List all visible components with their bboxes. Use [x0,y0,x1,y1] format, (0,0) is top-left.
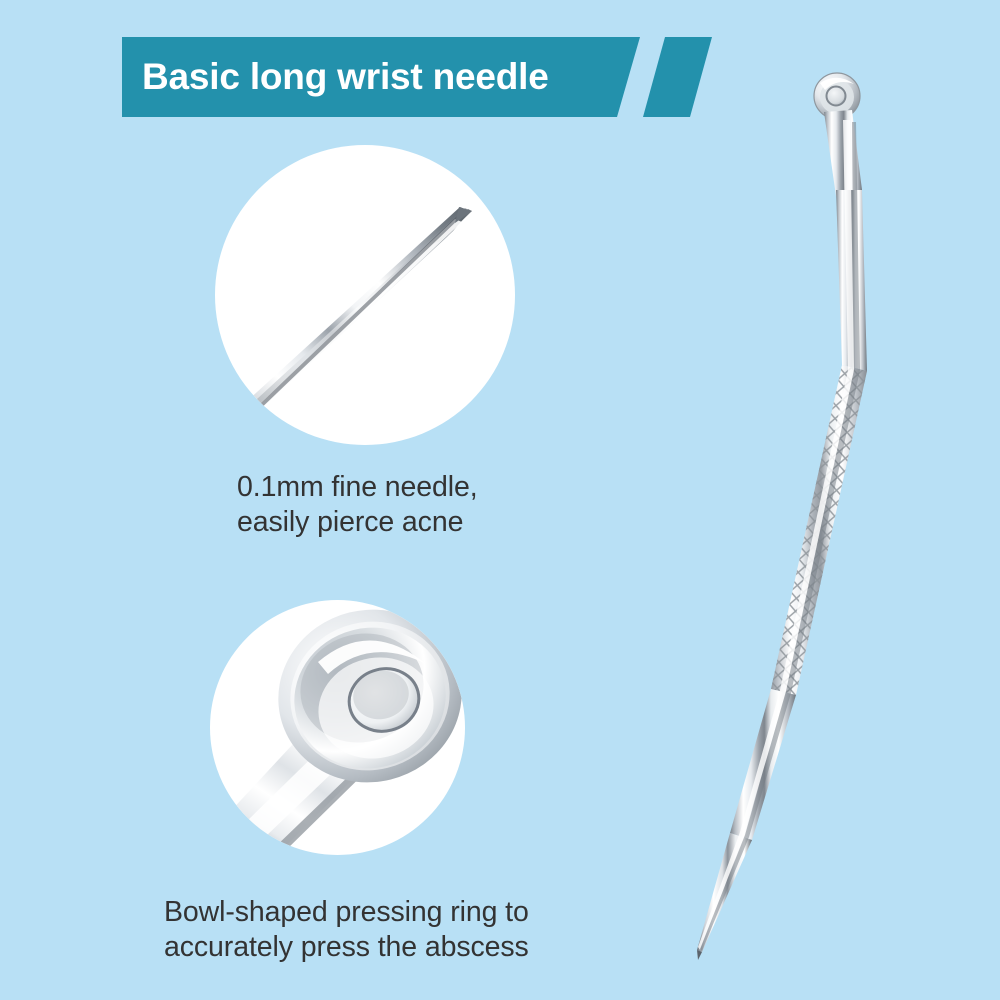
page-title: Basic long wrist needle [142,52,612,106]
product-infographic: Basic long wrist needle [0,0,1000,1000]
needle-lower-edge [223,215,461,439]
feature-circle-needle-tip [215,145,515,445]
product-core-shadow-line [700,122,860,951]
needle-tip-closeup-image [215,145,515,445]
feature-circle-press-ring [210,600,465,855]
pressing-ring-closeup-image [210,600,465,855]
feature-caption-needle-tip: 0.1mm fine needle, easily pierce acne [237,470,667,540]
product-image-main [640,40,900,980]
feature-caption-press-ring: Bowl-shaped pressing ring to accurately … [164,895,644,965]
